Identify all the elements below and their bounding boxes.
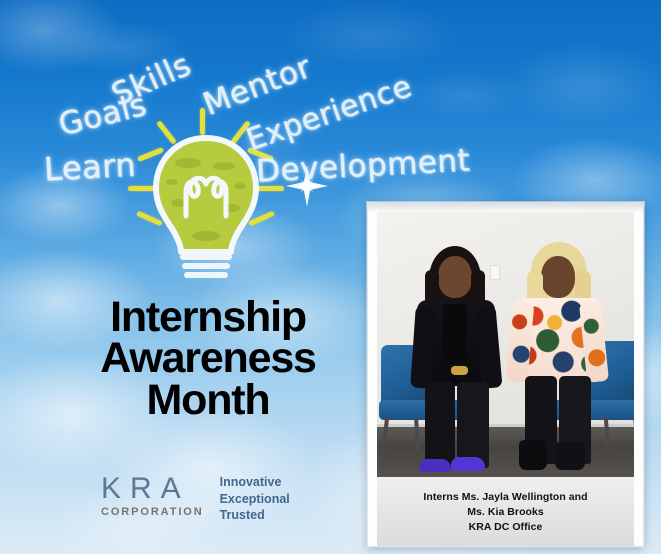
intern-photo-frame: Interns Ms. Jayla Wellington and Ms. Kia… xyxy=(367,202,644,547)
caption-line-3: KRA DC Office xyxy=(469,520,543,535)
page-title: Internship Awareness Month xyxy=(68,297,348,421)
person-kia-brooks xyxy=(505,244,620,464)
photo-caption: Interns Ms. Jayla Wellington and Ms. Kia… xyxy=(377,477,634,546)
logo-tagline: Innovative Exceptional Trusted xyxy=(220,474,290,524)
internship-awareness-poster: Skills Goals Learn Mentor Experience Dev… xyxy=(0,0,661,554)
headline-line-1: Internship xyxy=(68,297,348,338)
headline-line-2: Awareness xyxy=(68,338,348,379)
intern-photo xyxy=(377,212,634,477)
logo-subtext: CORPORATION xyxy=(101,506,204,518)
logo-wordmark: KRA CORPORATION xyxy=(101,473,204,518)
chalk-word-development: Development xyxy=(255,142,471,189)
person-jayla-wellington xyxy=(407,248,517,463)
chalk-word-learn: Learn xyxy=(43,146,137,189)
kra-corporation-logo: KRA CORPORATION Innovative Exceptional T… xyxy=(101,473,290,524)
caption-line-1: Interns Ms. Jayla Wellington and xyxy=(423,490,587,505)
tagline-line-1: Innovative xyxy=(220,474,290,491)
caption-line-2: Ms. Kia Brooks xyxy=(467,505,544,520)
headline-line-3: Month xyxy=(68,380,348,421)
tagline-line-2: Exceptional xyxy=(220,491,290,508)
logo-mark-text: KRA xyxy=(101,473,204,504)
tagline-line-3: Trusted xyxy=(220,507,290,524)
